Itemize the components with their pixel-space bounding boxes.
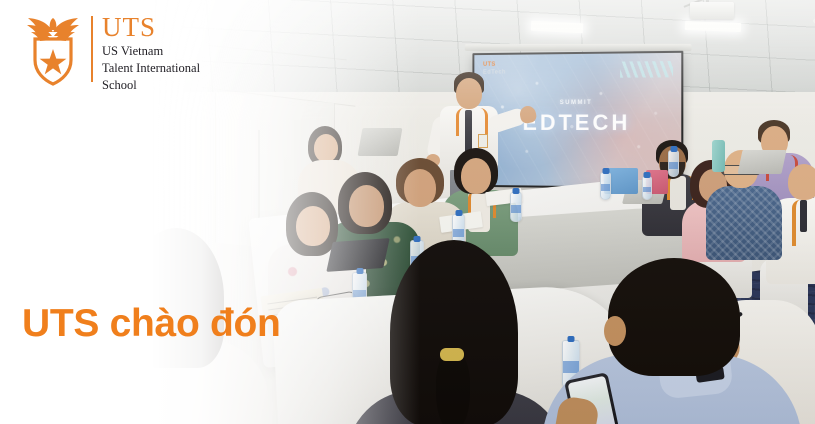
ceiling-light <box>685 21 741 32</box>
bottle-label <box>453 229 464 237</box>
logo-name-line-2: Talent International <box>102 60 200 77</box>
uts-eagle-shield-icon <box>24 14 82 86</box>
torso <box>706 186 782 260</box>
bottle-label <box>601 184 610 191</box>
bottle-cap <box>644 172 651 178</box>
hair-tie <box>440 348 464 361</box>
screen-brand-logo: UTS EdTech <box>483 62 506 77</box>
head <box>461 158 491 194</box>
logo-wordmark: UTS US Vietnam Talent International Scho… <box>102 14 200 93</box>
bottle-cap <box>513 188 520 194</box>
logo-acronym: UTS <box>102 14 200 41</box>
bottle-cap <box>356 268 363 274</box>
water-bottle <box>600 172 611 200</box>
bottle-cap <box>414 236 421 242</box>
projection-screen-housing <box>465 44 692 51</box>
head <box>788 164 815 200</box>
uts-logo[interactable]: UTS US Vietnam Talent International Scho… <box>24 14 200 93</box>
screen-subtitle: SUMMIT <box>474 100 681 107</box>
bottle-cap <box>455 210 462 216</box>
screen-brand-sub: EdTech <box>483 69 506 75</box>
logo-name-line-1: US Vietnam <box>102 43 200 60</box>
id-badge <box>478 134 488 148</box>
water-bottle <box>668 150 679 177</box>
head <box>296 206 330 246</box>
water-bottle <box>642 176 652 200</box>
laptop <box>737 150 786 174</box>
bottle-label <box>643 187 651 193</box>
ear <box>604 316 626 346</box>
bottle-cap <box>602 168 609 174</box>
bottle-label <box>511 205 521 212</box>
bottle-label <box>669 162 678 169</box>
screen-stripe-graphic <box>620 61 673 78</box>
bottle-cap <box>568 336 575 342</box>
head <box>404 169 436 207</box>
laptop <box>358 128 403 156</box>
logo-name-lines: US Vietnam Talent International School <box>102 43 200 93</box>
thermos-flask <box>712 140 725 172</box>
orange-lanyard <box>456 108 488 136</box>
bottle-cap <box>670 146 677 152</box>
logo-divider <box>91 16 93 82</box>
screen-brand-acronym: UTS <box>483 62 496 68</box>
laptop <box>326 238 389 272</box>
hair <box>608 258 740 376</box>
uts-news-banner: UTS EdTech SUMMIT EDTECH <box>0 0 815 424</box>
headline-line-1: UTS chào đón <box>22 301 300 347</box>
headline: UTS chào đón các chuyên gia từ Bộ Giáo d… <box>22 209 300 424</box>
necktie <box>465 110 472 154</box>
orange-lanyard <box>792 200 815 246</box>
head <box>349 185 384 227</box>
ponytail <box>436 352 470 424</box>
head <box>314 134 338 162</box>
water-bottle <box>510 192 522 222</box>
logo-name-line-3: School <box>102 77 200 94</box>
ceiling-projector <box>690 2 734 19</box>
head <box>456 78 482 109</box>
